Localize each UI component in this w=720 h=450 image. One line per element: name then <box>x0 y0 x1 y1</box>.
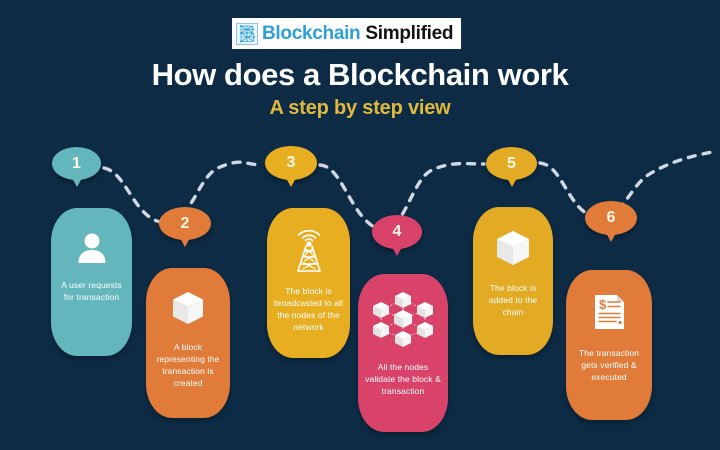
badge-tail-6 <box>606 233 616 242</box>
infographic-canvas: Blockchain Simplified How does a Blockch… <box>0 0 720 450</box>
badge-tail-5 <box>507 178 517 187</box>
step-description-3: The block is broadcasted to all the node… <box>267 285 350 333</box>
step-number-5: 5 <box>507 155 516 173</box>
cube-icon <box>495 229 531 272</box>
step-description-4: All the nodes validate the block & trans… <box>358 361 448 397</box>
step-number-3: 3 <box>287 154 296 172</box>
step-description-6: The transaction gets verified & executed <box>566 347 652 383</box>
invoice-icon: $ <box>589 292 629 337</box>
brand-name-primary: Blockchain <box>262 24 360 43</box>
step-badge-1[interactable]: 1 <box>52 147 101 180</box>
brand-logo: Blockchain Simplified <box>232 18 461 49</box>
step-card-4[interactable]: All the nodes validate the block & trans… <box>358 274 448 432</box>
brand-name-secondary: Simplified <box>365 24 453 43</box>
step-card-5[interactable]: The block is added to the chain <box>473 207 553 355</box>
step-badge-3[interactable]: 3 <box>265 146 317 180</box>
step-description-5: The block is added to the chain <box>473 282 553 318</box>
step-badge-6[interactable]: 6 <box>585 201 637 235</box>
svg-text:$: $ <box>599 297 607 312</box>
step-description-2: A block representing the transaction is … <box>146 341 230 389</box>
step-card-6[interactable]: $ The transaction gets verified & execut… <box>566 270 652 420</box>
step-card-3[interactable]: The block is broadcasted to all the node… <box>267 208 350 358</box>
step-number-6: 6 <box>607 209 616 227</box>
step-badge-5[interactable]: 5 <box>486 147 537 180</box>
step-number-4: 4 <box>393 223 402 241</box>
page-subtitle: A step by step view <box>0 97 720 120</box>
step-badge-4[interactable]: 4 <box>372 215 422 249</box>
broadcast-tower-icon <box>289 226 329 277</box>
node-network-icon <box>368 288 438 355</box>
step-card-1[interactable]: A user requests for transaction <box>51 208 132 356</box>
step-badge-2[interactable]: 2 <box>159 207 211 240</box>
badge-tail-2 <box>180 238 190 247</box>
cube-icon <box>171 290 205 331</box>
badge-tail-4 <box>392 247 402 256</box>
step-number-1: 1 <box>72 155 81 173</box>
step-description-1: A user requests for transaction <box>51 279 132 303</box>
page-title: How does a Blockchain work <box>0 57 720 93</box>
blockchain-b-logo-icon <box>236 23 258 45</box>
badge-tail-1 <box>72 178 82 187</box>
step-card-2[interactable]: A block representing the transaction is … <box>146 268 230 418</box>
badge-tail-3 <box>286 178 296 187</box>
step-number-2: 2 <box>181 215 190 233</box>
user-icon <box>75 232 109 269</box>
